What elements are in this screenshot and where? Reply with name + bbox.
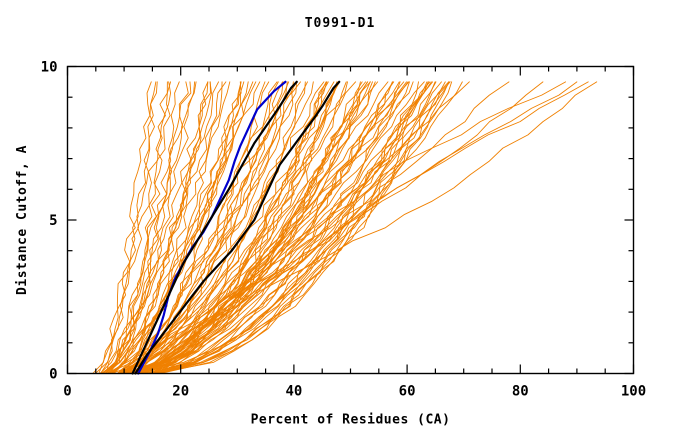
background-curves-group bbox=[93, 82, 597, 374]
x-tick-label: 20 bbox=[172, 384, 189, 400]
x-tick-label: 80 bbox=[512, 384, 529, 400]
x-tick-label: 40 bbox=[285, 384, 302, 400]
x-tick-label: 60 bbox=[399, 384, 416, 400]
y-tick-label: 10 bbox=[41, 60, 58, 76]
y-axis-title: Distance Cutoff, A bbox=[15, 145, 30, 295]
chart-plot-area: 0204060801000510Percent of Residues (CA)… bbox=[0, 0, 680, 440]
x-tick-label: 100 bbox=[621, 384, 646, 400]
x-axis-title: Percent of Residues (CA) bbox=[251, 413, 451, 428]
y-tick-label: 5 bbox=[49, 213, 57, 229]
chart-root: T0991-D1 0204060801000510Percent of Resi… bbox=[0, 0, 680, 440]
y-tick-label: 0 bbox=[49, 367, 57, 383]
x-tick-label: 0 bbox=[63, 384, 71, 400]
